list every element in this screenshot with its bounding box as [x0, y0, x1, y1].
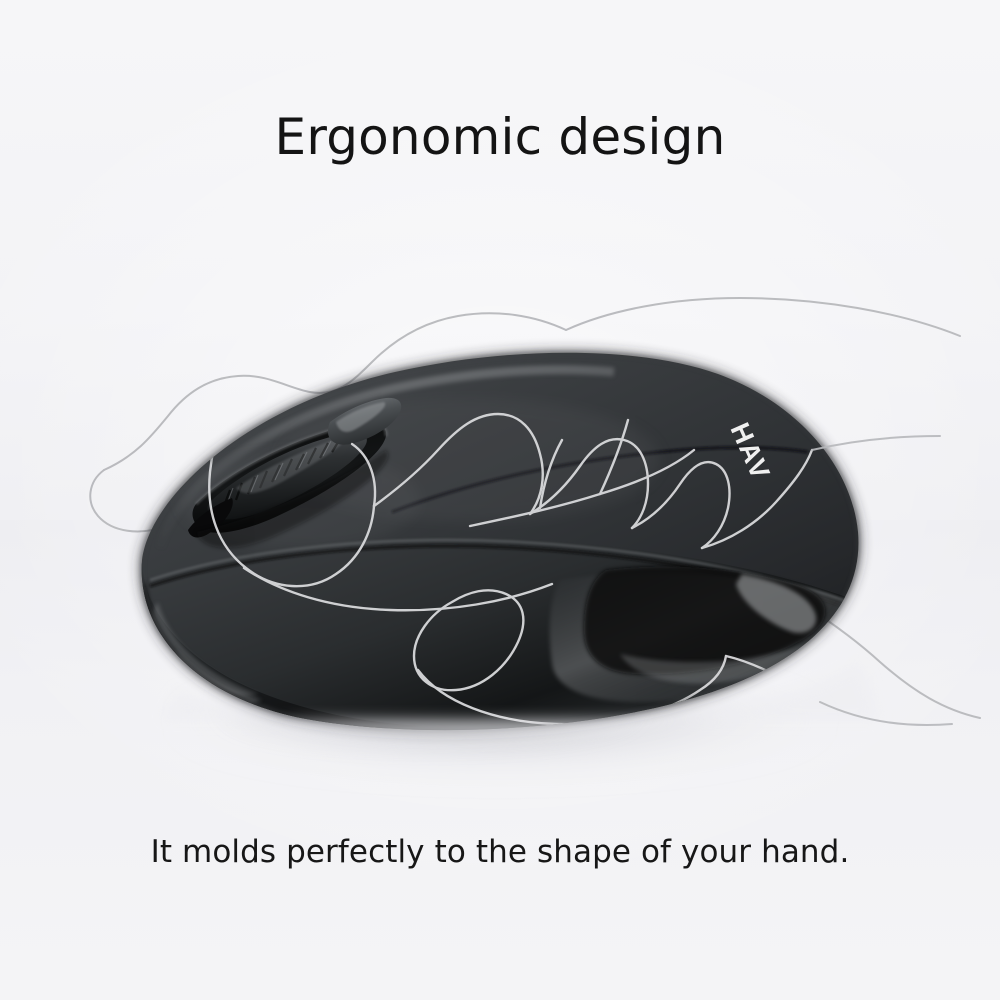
caption-text: It molds perfectly to the shape of your …: [0, 832, 1000, 872]
product-feature-slide: Ergonomic design: [0, 0, 1000, 1000]
page-title: Ergonomic design: [0, 108, 1000, 166]
product-photo: HAV: [0, 250, 1000, 810]
